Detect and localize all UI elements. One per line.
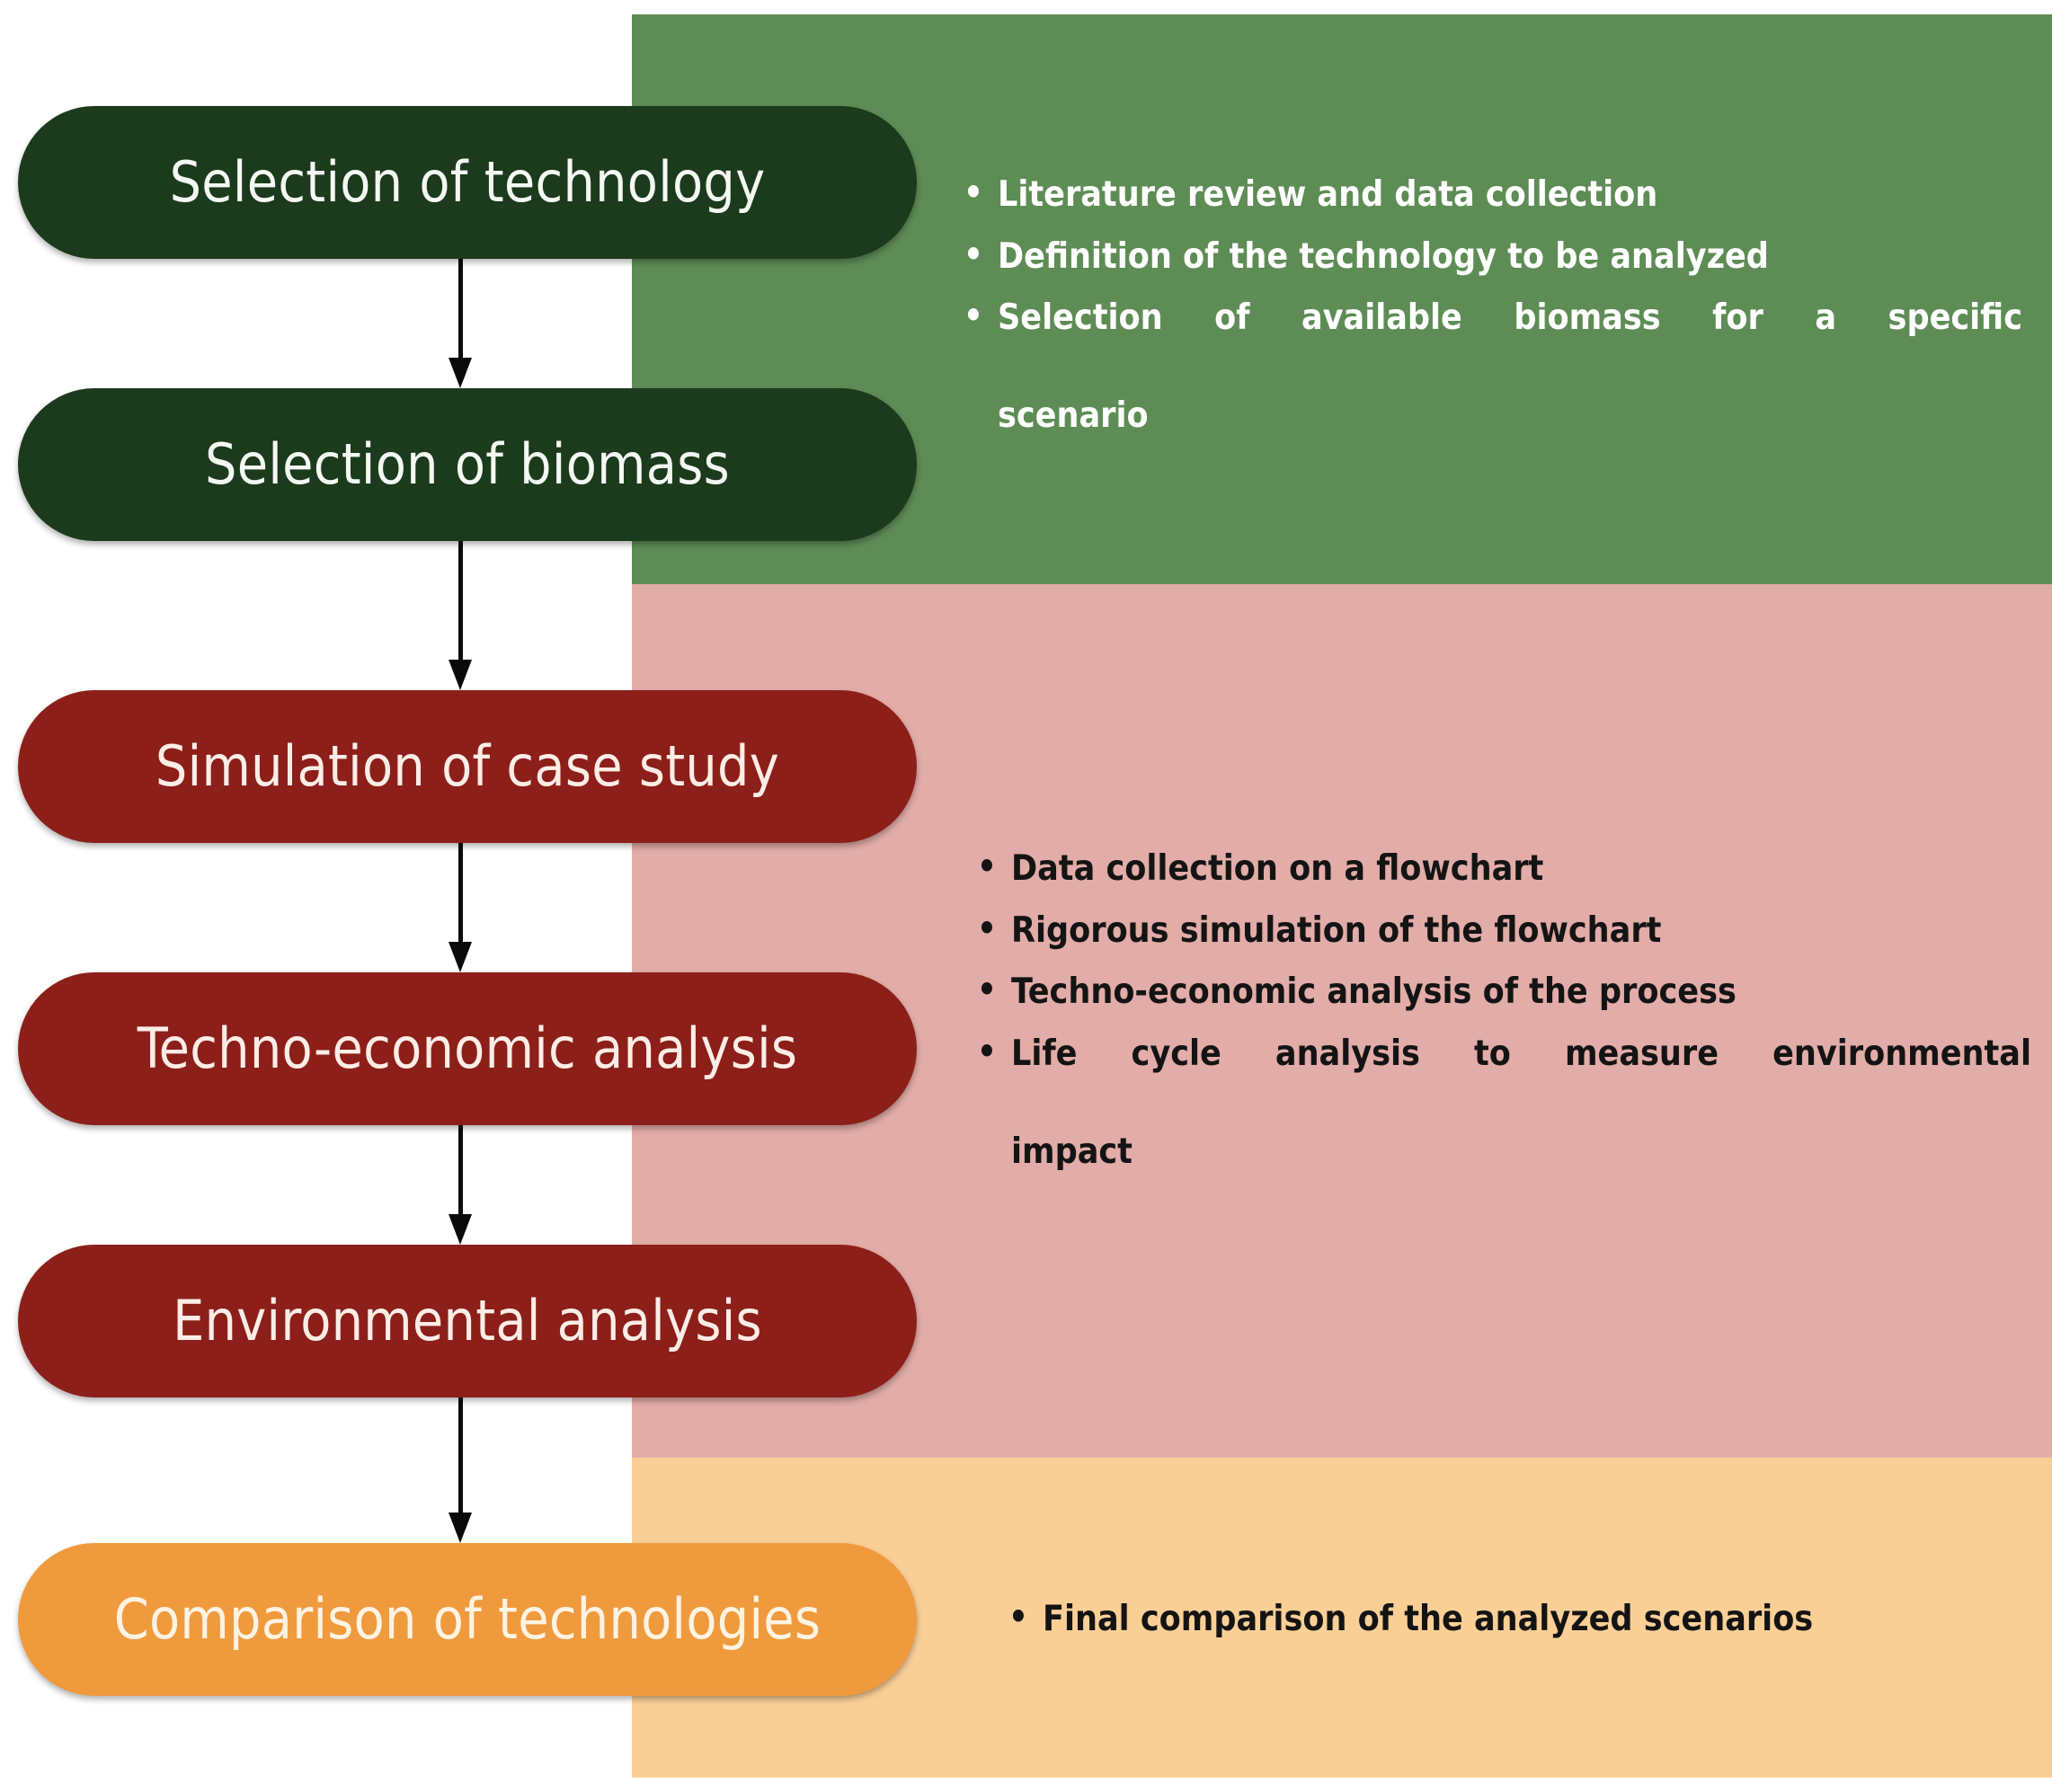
stage-red-bullet-list: Data collection on a flowchart Rigorous … (966, 845, 2031, 1190)
bullet-text-continued: impact (1011, 1131, 1133, 1172)
list-item: Final comparison of the analyzed scenari… (998, 1595, 2004, 1645)
flow-step-label: Selection of biomass (205, 437, 730, 492)
bullet-text-continued: scenario (998, 395, 1149, 436)
diagram-canvas: Selection of technology Selection of bio… (0, 0, 2052, 1792)
arrow-head-icon (449, 358, 472, 388)
flow-step-label: Techno-economic analysis (138, 1021, 798, 1077)
bullet-text: Final comparison of the analyzed scenari… (1043, 1599, 1813, 1639)
flow-step-selection-of-technology[interactable]: Selection of technology (18, 106, 917, 259)
list-item: Literature review and data collection (953, 171, 2022, 220)
flow-arrow-3 (449, 843, 472, 972)
arrow-head-icon (449, 660, 472, 690)
arrow-head-icon (449, 1214, 472, 1245)
arrow-shaft (458, 1397, 463, 1514)
flow-step-simulation-of-case-study[interactable]: Simulation of case study (18, 690, 917, 843)
arrow-shaft (458, 843, 463, 944)
list-item: Selection of available biomass for a spe… (953, 294, 2022, 441)
list-item: Rigorous simulation of the flowchart (966, 907, 2031, 956)
stage-green-bullet-list: Literature review and data collection De… (953, 171, 2022, 454)
flow-step-comparison-of-technologies[interactable]: Comparison of technologies (18, 1543, 917, 1696)
flow-step-techno-economic-analysis[interactable]: Techno-economic analysis (18, 972, 917, 1125)
arrow-head-icon (449, 1513, 472, 1543)
flow-step-selection-of-biomass[interactable]: Selection of biomass (18, 388, 917, 541)
flow-arrow-2 (449, 541, 472, 690)
arrow-shaft (458, 1125, 463, 1216)
stage-orange-bullet-list: Final comparison of the analyzed scenari… (998, 1595, 2004, 1645)
list-item: Definition of the technology to be analy… (953, 233, 2022, 282)
arrow-shaft (458, 541, 463, 661)
list-item: Life cycle analysis to measure environme… (966, 1030, 2031, 1177)
arrow-shaft (458, 259, 463, 359)
flow-arrow-1 (449, 259, 472, 388)
list-item: Data collection on a flowchart (966, 845, 2031, 894)
list-item: Techno-economic analysis of the process (966, 968, 2031, 1017)
flow-arrow-4 (449, 1125, 472, 1245)
bullet-text: Definition of the technology to be analy… (998, 236, 1769, 277)
bullet-text: Selection of available biomass for a spe… (998, 294, 2022, 392)
flow-step-label: Environmental analysis (173, 1293, 762, 1349)
flow-step-label: Comparison of technologies (114, 1592, 822, 1647)
bullet-text: Literature review and data collection (998, 174, 1657, 215)
bullet-text: Data collection on a flowchart (1011, 848, 1543, 889)
flow-arrow-5 (449, 1397, 472, 1543)
flow-step-label: Simulation of case study (155, 739, 779, 794)
bullet-text: Rigorous simulation of the flowchart (1011, 910, 1661, 951)
arrow-head-icon (449, 942, 472, 972)
bullet-text: Life cycle analysis to measure environme… (1011, 1030, 2031, 1128)
flow-step-environmental-analysis[interactable]: Environmental analysis (18, 1245, 917, 1397)
flow-step-label: Selection of technology (170, 155, 766, 210)
bullet-text: Techno-economic analysis of the process (1011, 971, 1737, 1012)
